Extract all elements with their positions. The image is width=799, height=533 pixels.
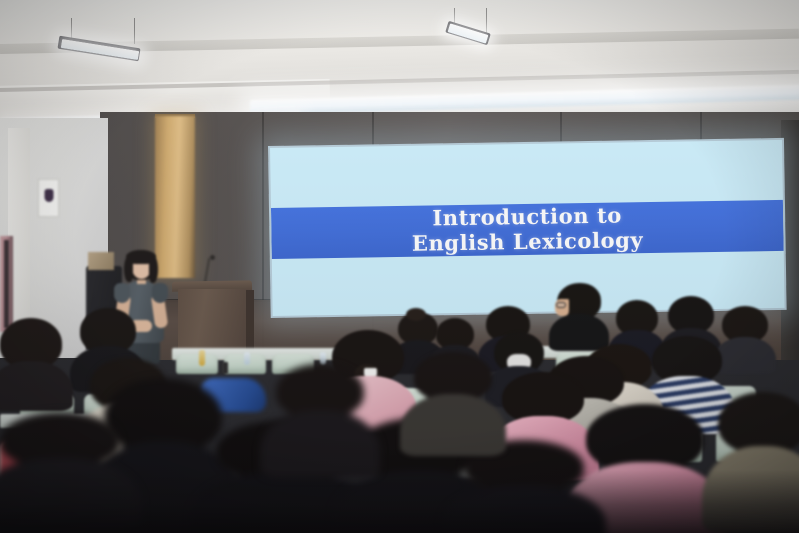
screen-bezel: Introduction to English Lexicology — [268, 138, 787, 318]
pendant-lamp-icon — [58, 18, 148, 64]
door-gap — [4, 240, 9, 328]
seat-gap — [222, 362, 228, 374]
seat — [176, 354, 218, 374]
slide-title-text: Introduction to English Lexicology — [411, 202, 643, 258]
water-bottle-yellow — [199, 350, 205, 366]
attendee-foreground — [276, 364, 364, 474]
foreground-shadow — [0, 470, 799, 533]
cabinet-top-object — [88, 252, 114, 270]
wall-notice-sign — [38, 179, 59, 217]
water-bottle-clear — [244, 352, 250, 365]
eyeglasses-icon — [556, 302, 566, 308]
attendee-profile-glasses — [557, 283, 601, 343]
slide-title-band: Introduction to English Lexicology — [271, 200, 784, 258]
sign-emblem-icon — [44, 189, 53, 202]
attendee — [0, 318, 62, 400]
lecture-hall-photo: Introduction to English Lexicology — [0, 0, 799, 533]
presentation-slide: Introduction to English Lexicology — [270, 140, 785, 316]
attendee — [414, 352, 492, 452]
projection-screen: Introduction to English Lexicology — [268, 138, 787, 318]
presenter-hair-left — [124, 256, 133, 282]
presenter-hair-right — [149, 256, 158, 283]
presenter-sleeve-left — [114, 283, 130, 303]
pendant-lamp-2-icon — [446, 8, 500, 48]
presenter-sleeve-right — [152, 283, 168, 303]
podium-microphone-head-icon — [210, 255, 215, 260]
attendee — [722, 306, 768, 366]
hair-clip-icon — [364, 368, 377, 376]
